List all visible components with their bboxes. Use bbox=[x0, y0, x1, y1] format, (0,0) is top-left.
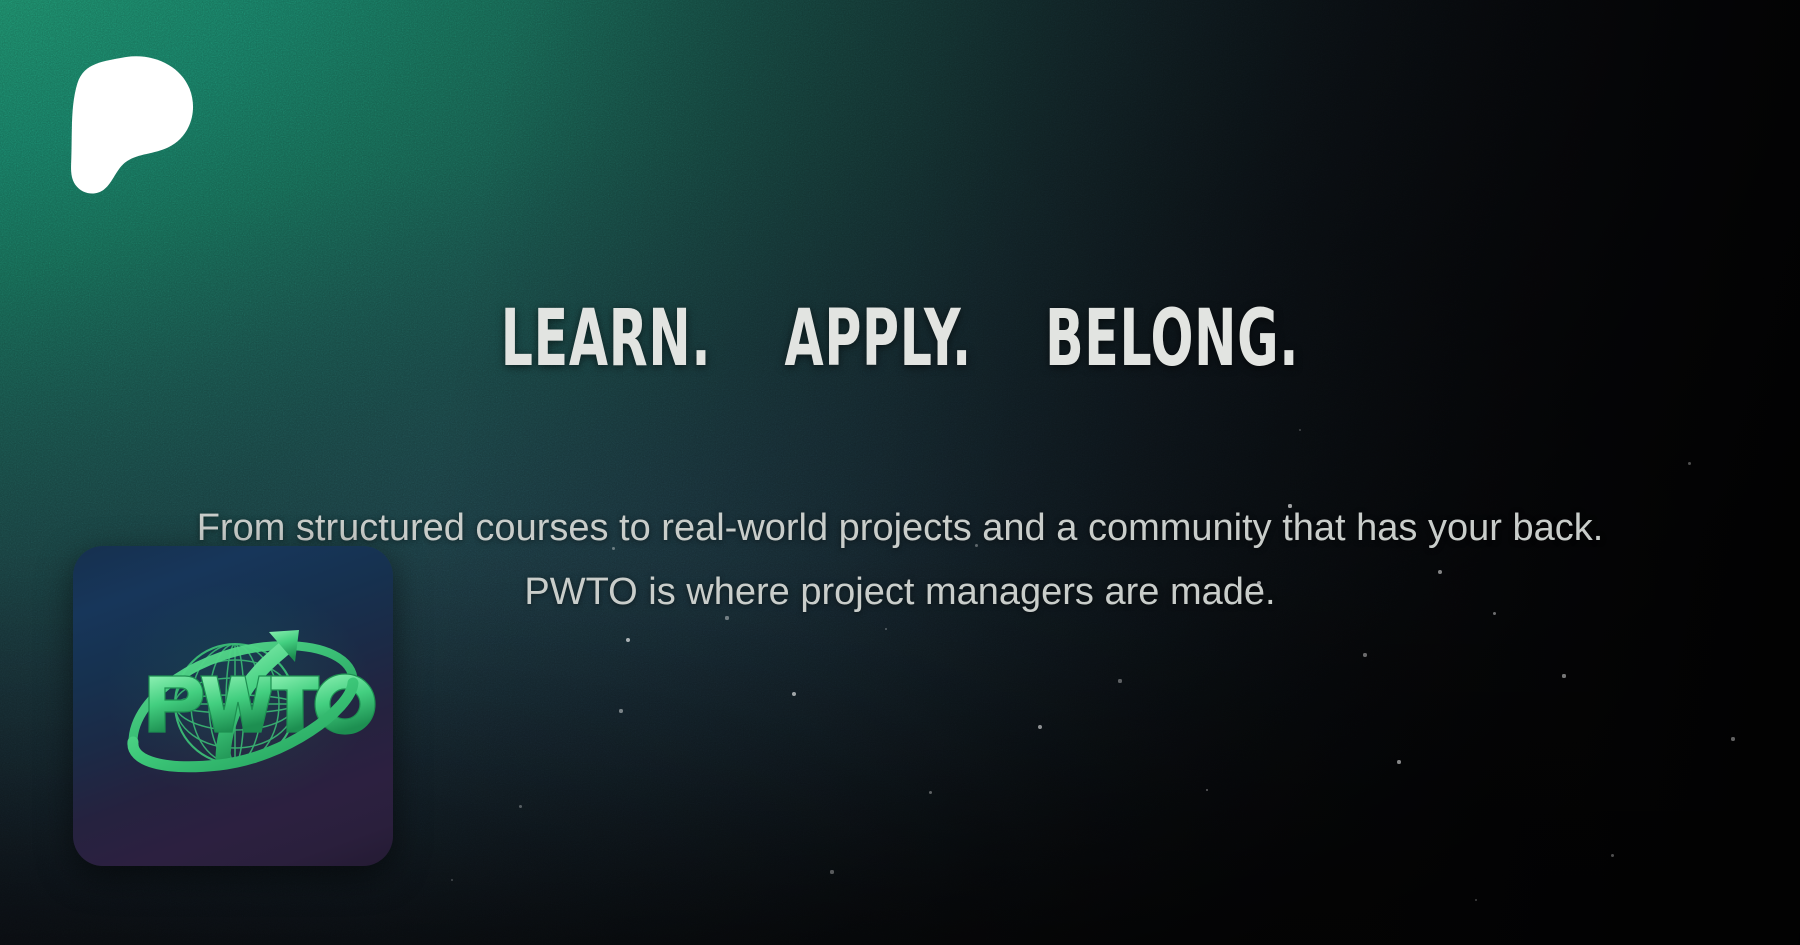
star-dot bbox=[885, 628, 888, 631]
star-dot bbox=[792, 692, 796, 696]
star-dot bbox=[929, 791, 932, 794]
star-dot bbox=[451, 879, 454, 882]
patreon-hero-banner: LEARN. APPLY. BELONG. From structured co… bbox=[0, 0, 1800, 945]
star-dot bbox=[1363, 653, 1366, 656]
globe-orbit-arrow-icon bbox=[73, 546, 393, 866]
star-dot bbox=[519, 805, 522, 808]
star-dot bbox=[1731, 737, 1734, 740]
page-title: LEARN. APPLY. BELONG. bbox=[252, 300, 1548, 378]
patreon-logo-icon[interactable] bbox=[68, 55, 196, 195]
star-dot bbox=[1611, 854, 1614, 857]
star-dot bbox=[626, 638, 631, 643]
patreon-logo-glyph bbox=[68, 55, 196, 195]
avatar[interactable]: PWTO bbox=[73, 546, 393, 866]
star-dot bbox=[1206, 789, 1209, 792]
star-dot bbox=[1562, 674, 1565, 677]
star-dot bbox=[1038, 725, 1042, 729]
star-dot bbox=[1688, 462, 1691, 465]
star-dot bbox=[1118, 679, 1121, 682]
hero-subtitle-line-1: From structured courses to real-world pr… bbox=[197, 507, 1604, 549]
star-dot bbox=[1299, 429, 1302, 432]
star-dot bbox=[830, 870, 833, 873]
star-dot bbox=[619, 709, 622, 712]
star-dot bbox=[1475, 899, 1478, 902]
star-dot bbox=[1397, 760, 1401, 764]
